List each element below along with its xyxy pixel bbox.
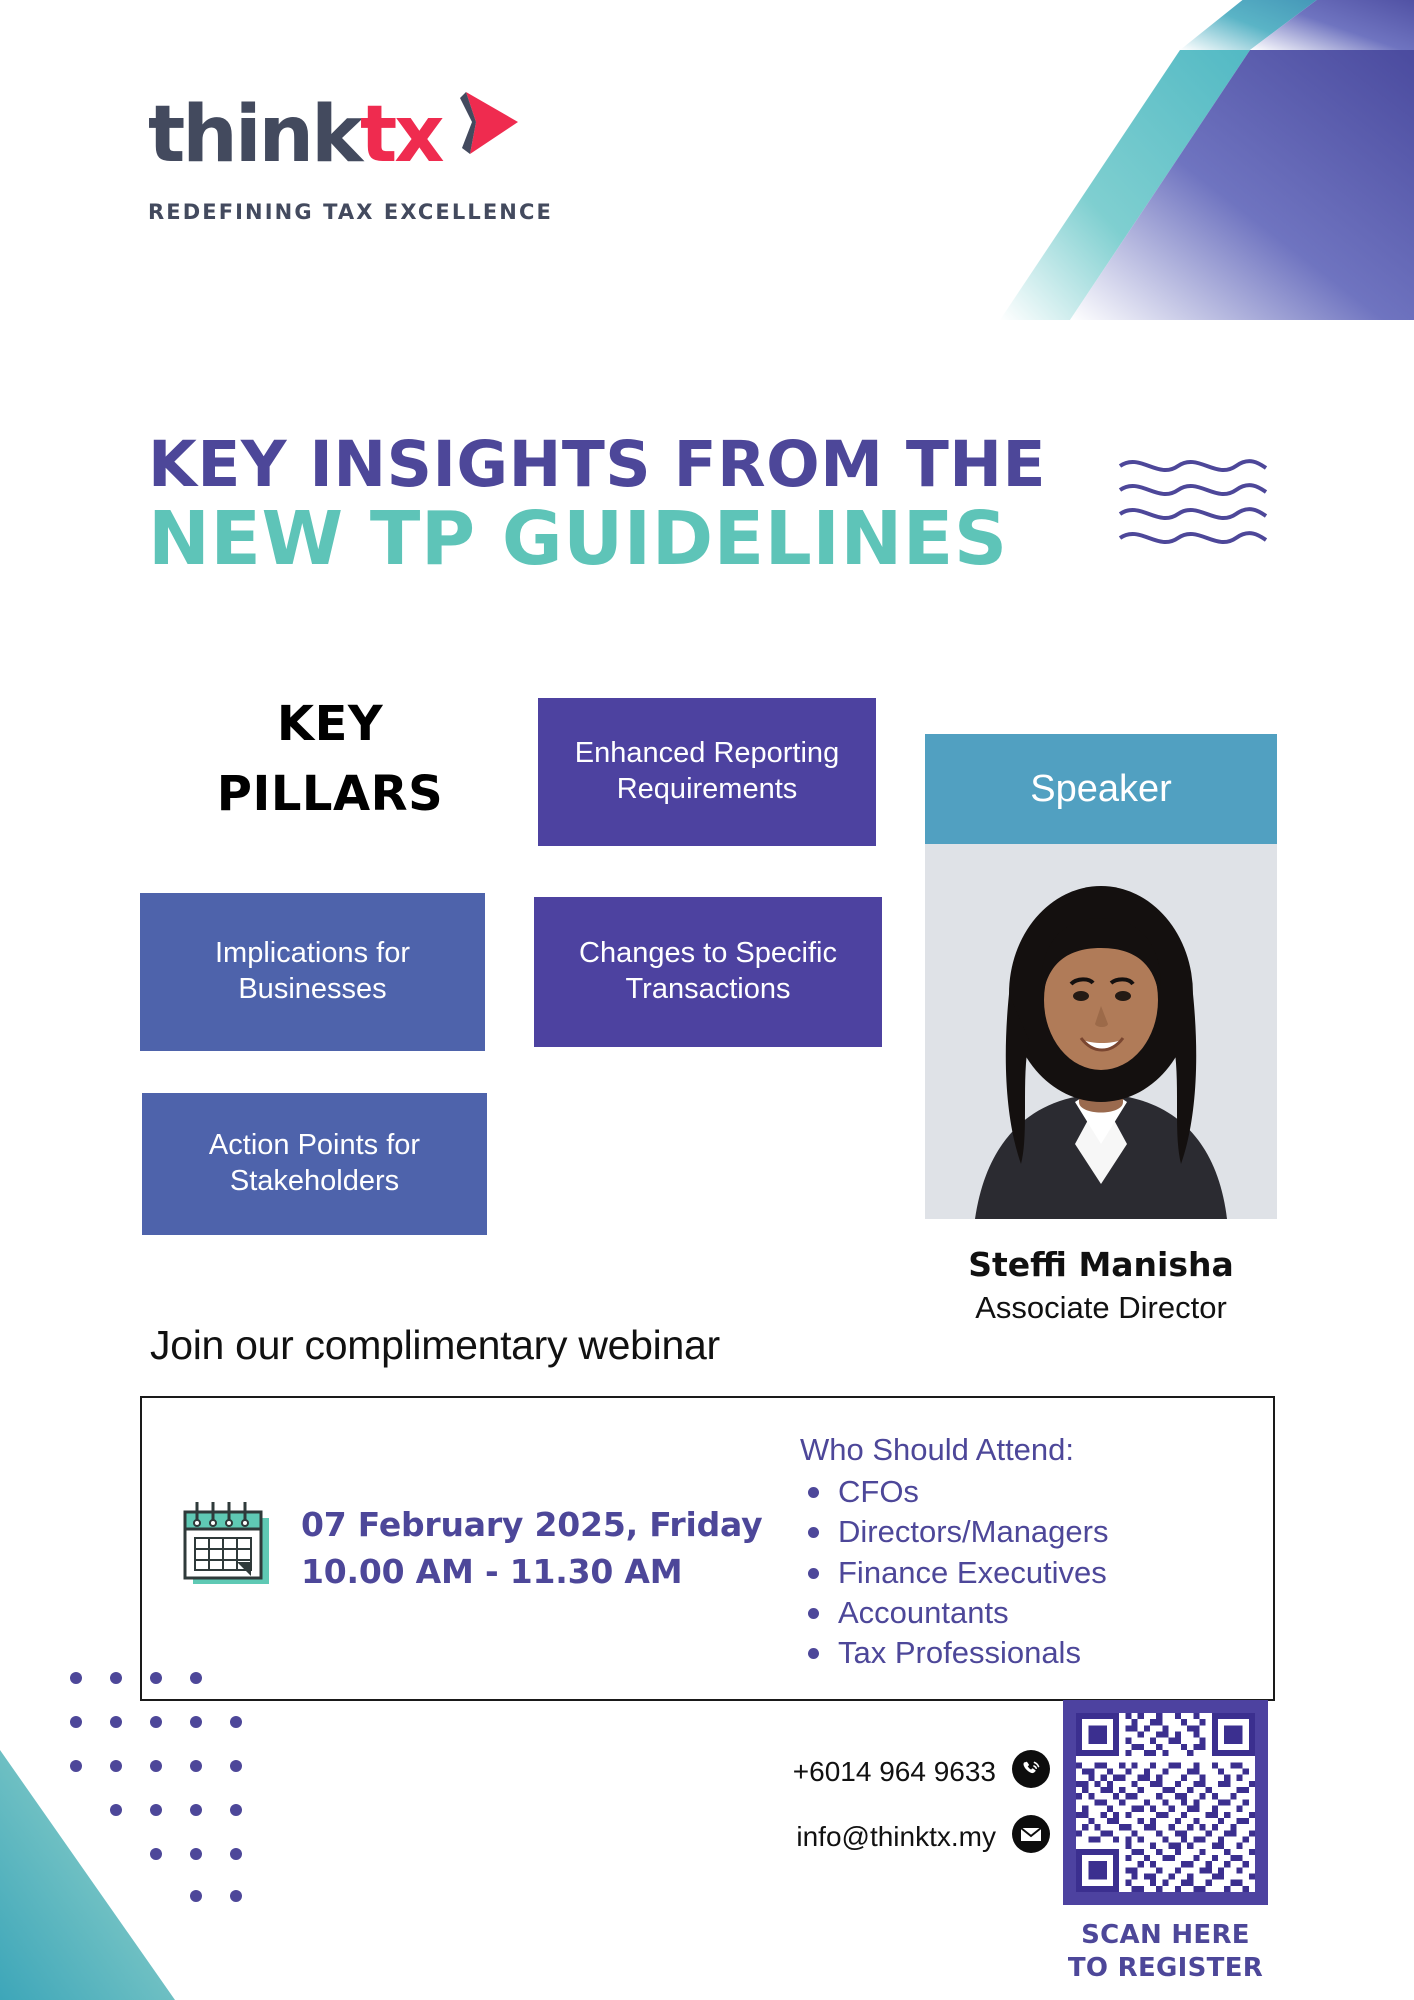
wave-lines-icon [1118,454,1268,551]
qr-code-frame [1063,1700,1268,1905]
page-title: KEY INSIGHTS FROM THE NEW TP GUIDELINES [148,432,1258,578]
event-datetime: 07 February 2025, Friday 10.00 AM - 11.3… [301,1502,762,1596]
event-time: 10.00 AM - 11.30 AM [301,1549,762,1596]
contact-block: +6014 964 9633 info@thinktx.my [760,1750,1050,1880]
pillar-card-implications-businesses: Implications for Businesses [140,893,485,1051]
scan-line-2: TO REGISTER [1063,1952,1268,1985]
speaker-role: Associate Director [925,1290,1277,1326]
logo-think-text: think [148,96,360,174]
speaker-name: Steffi Manisha [925,1245,1277,1284]
event-date: 07 February 2025, Friday [301,1502,762,1549]
dot-grid-decoration [68,1670,288,1910]
event-datetime-group: 07 February 2025, Friday 10.00 AM - 11.3… [142,1398,782,1699]
list-item: CFOs [838,1472,1273,1512]
audience-group: Who Should Attend: CFOs Directors/Manage… [782,1398,1273,1699]
contact-email-row[interactable]: info@thinktx.my [760,1815,1050,1858]
event-details-box: 07 February 2025, Friday 10.00 AM - 11.3… [140,1396,1275,1701]
logo-tagline: REDEFINING TAX EXCELLENCE [148,200,568,224]
contact-phone-text: +6014 964 9633 [793,1756,996,1788]
corner-triangle-decoration [0,1710,190,2000]
qr-code-image [1076,1713,1255,1892]
scan-line-1: SCAN HERE [1063,1919,1268,1952]
calendar-icon [177,1500,277,1597]
logo-tx-text: tx [360,96,442,174]
webinar-poster: thinktx REDEFINING TAX EXCELLENCE KEY IN… [0,0,1414,2000]
contact-email-text: info@thinktx.my [796,1821,996,1853]
list-item: Accountants [838,1593,1273,1633]
list-item: Directors/Managers [838,1512,1273,1552]
brand-logo: thinktx REDEFINING TAX EXCELLENCE [148,96,568,224]
contact-phone-row[interactable]: +6014 964 9633 [760,1750,1050,1793]
key-pillars-heading-line2: PILLARS [180,760,480,830]
headline-line-2: NEW TP GUIDELINES [148,500,1258,578]
ribbon-decoration [1000,0,1414,390]
pillar-card-enhanced-reporting: Enhanced Reporting Requirements [538,698,876,846]
list-item: Tax Professionals [838,1633,1273,1673]
pillar-card-action-points: Action Points for Stakeholders [142,1093,487,1235]
speaker-photo [925,844,1277,1219]
qr-register-block[interactable]: SCAN HERE TO REGISTER [1063,1700,1268,1985]
phone-icon [1012,1750,1050,1793]
arrow-icon [448,82,524,167]
speaker-header-label: Speaker [925,734,1277,844]
key-pillars-heading-line1: KEY [180,690,480,760]
logo-wordmark: thinktx [148,96,568,188]
speaker-card: Speaker [925,734,1277,1326]
list-item: Finance Executives [838,1553,1273,1593]
key-pillars-heading: KEY PILLARS [180,690,480,829]
headline-line-1: KEY INSIGHTS FROM THE [148,432,1258,498]
audience-list: CFOs Directors/Managers Finance Executiv… [782,1472,1273,1673]
join-webinar-text: Join our complimentary webinar [150,1322,720,1369]
scan-to-register-text: SCAN HERE TO REGISTER [1063,1919,1268,1985]
audience-heading: Who Should Attend: [782,1432,1273,1468]
pillar-card-changes-transactions: Changes to Specific Transactions [534,897,882,1047]
email-icon [1012,1815,1050,1858]
